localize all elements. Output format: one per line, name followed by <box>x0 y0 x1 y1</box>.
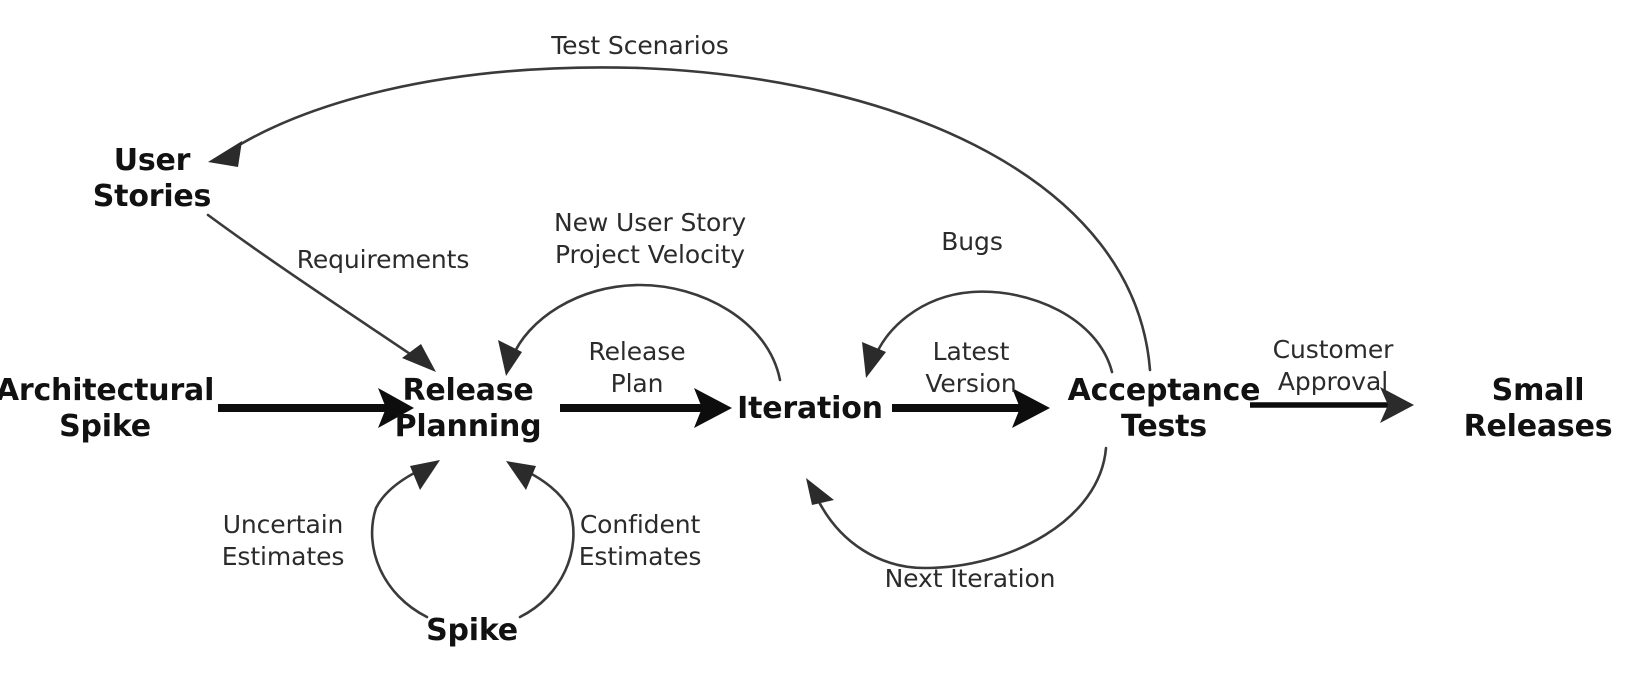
edge-label-latest-version-line1: Latest <box>933 337 1010 366</box>
uncertain-estimates-arrowhead <box>410 460 440 490</box>
node-small-releases-line2: Releases <box>1464 409 1613 444</box>
requirements-arc <box>208 215 416 358</box>
edge-label-requirements: Requirements <box>297 245 470 274</box>
node-spike-line1: Spike <box>426 613 518 648</box>
node-acceptance-tests-line2: Tests <box>1121 409 1207 444</box>
edge-user-stories-to-release-planning <box>208 215 436 372</box>
uncertain-estimates-arc <box>372 470 427 617</box>
xp-flow-diagram: Architectural Spike User Stories Release… <box>0 0 1638 684</box>
node-small-releases-line1: Small <box>1492 373 1585 408</box>
edge-architectural-spike-to-release-planning <box>218 388 414 428</box>
edge-label-latest-version-line2: Version <box>925 369 1016 398</box>
edge-label-uncertain-estimates-line2: Estimates <box>222 542 345 571</box>
edge-label-customer-approval-line2: Approval <box>1278 367 1388 396</box>
confident-estimates-arrowhead <box>506 461 536 490</box>
node-small-releases[interactable]: Small Releases <box>1464 373 1613 444</box>
edge-label-next-iteration: Next Iteration <box>885 564 1056 593</box>
edge-label-uncertain-estimates-line1: Uncertain <box>223 510 344 539</box>
node-release-planning-line1: Release <box>402 373 533 408</box>
edge-label-release-plan-line2: Plan <box>611 369 664 398</box>
confident-estimates-arc <box>520 471 573 617</box>
next-iteration-arc <box>818 448 1106 568</box>
node-architectural-spike[interactable]: Architectural Spike <box>0 373 214 444</box>
edge-label-release-plan-line1: Release <box>589 337 686 366</box>
edge-label-bugs: Bugs <box>941 227 1003 256</box>
node-acceptance-tests-line1: Acceptance <box>1068 373 1261 408</box>
edge-spike-to-release-planning-left <box>372 460 440 617</box>
node-user-stories-line2: Stories <box>93 179 211 214</box>
node-user-stories-line1: User <box>114 143 191 178</box>
node-spike[interactable]: Spike <box>426 613 518 648</box>
node-user-stories[interactable]: User Stories <box>93 143 211 214</box>
requirements-arrowhead <box>402 344 436 372</box>
edge-label-confident-estimates-line2: Estimates <box>579 542 702 571</box>
node-acceptance-tests[interactable]: Acceptance Tests <box>1068 373 1261 444</box>
flow-diagram-canvas: Architectural Spike User Stories Release… <box>0 0 1638 684</box>
bugs-arrowhead <box>862 342 886 378</box>
node-release-planning-line2: Planning <box>395 409 542 444</box>
next-iteration-arrowhead <box>806 478 834 505</box>
node-architectural-spike-line2: Spike <box>59 409 151 444</box>
edge-label-confident-estimates-line1: Confident <box>580 510 701 539</box>
edge-label-test-scenarios: Test Scenarios <box>550 31 728 60</box>
edge-acceptance-tests-to-iteration-next <box>806 448 1106 568</box>
edge-spike-to-release-planning-right <box>506 461 573 617</box>
edge-label-new-user-story-line1: New User Story <box>554 208 746 237</box>
node-architectural-spike-line1: Architectural <box>0 373 214 408</box>
node-release-planning[interactable]: Release Planning <box>395 373 542 444</box>
node-iteration-line1: Iteration <box>737 391 883 426</box>
edge-label-customer-approval-line1: Customer <box>1273 335 1394 364</box>
edge-label-new-user-story-line2: Project Velocity <box>555 240 745 269</box>
node-iteration[interactable]: Iteration <box>737 391 883 426</box>
test-scenarios-arrowhead <box>208 141 242 167</box>
